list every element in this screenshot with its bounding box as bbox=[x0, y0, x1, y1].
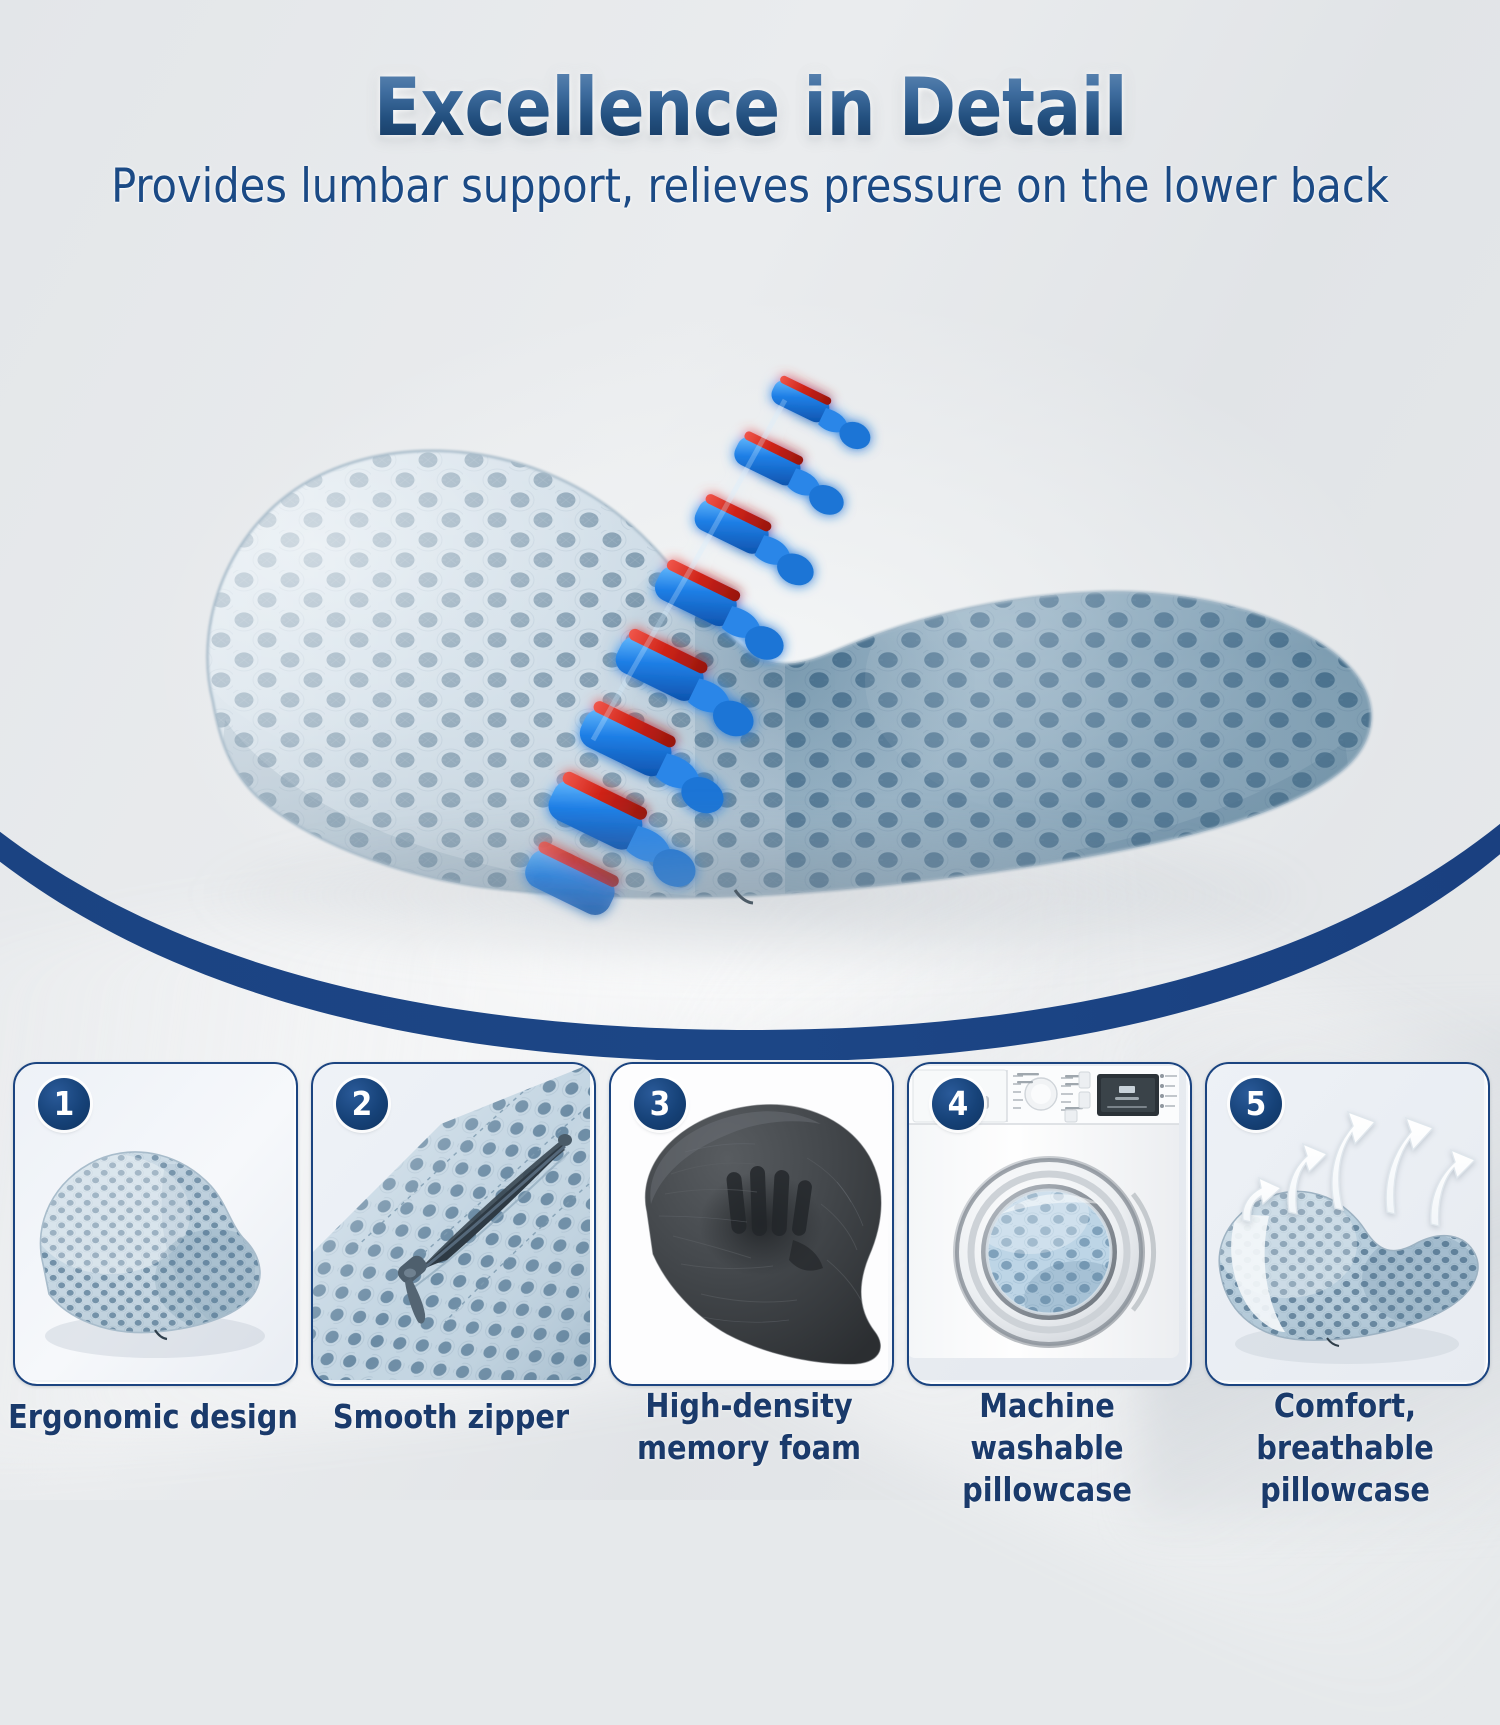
section-divider bbox=[0, 790, 1500, 1060]
page-title-container: Excellence in Detail bbox=[0, 68, 1500, 148]
feature-card-5[interactable]: 5 bbox=[1205, 1062, 1490, 1386]
feature-card-2[interactable]: 2 bbox=[311, 1062, 596, 1386]
feature-caption-5: Comfort, breathable pillowcase bbox=[1200, 1385, 1491, 1512]
feature-caption-3-line2: memory foam bbox=[604, 1427, 895, 1469]
feature-badge-4: 4 bbox=[932, 1078, 984, 1130]
feature-card-4[interactable]: 4 bbox=[907, 1062, 1192, 1386]
feature-badge-2: 2 bbox=[336, 1078, 388, 1130]
feature-caption-4-line2: pillowcase bbox=[902, 1469, 1193, 1511]
page-subtitle: Provides lumbar support, relieves pressu… bbox=[11, 162, 1489, 211]
feature-badge-3: 3 bbox=[634, 1078, 686, 1130]
feature-caption-3-line1: High-density bbox=[604, 1385, 895, 1427]
feature-card-1[interactable]: 1 bbox=[13, 1062, 298, 1386]
feature-caption-3: High-density memory foam bbox=[604, 1385, 895, 1469]
feature-caption-4-line1: Machine washable bbox=[902, 1385, 1193, 1469]
feature-card-3[interactable]: 3 bbox=[609, 1062, 894, 1386]
feature-caption-2: Smooth zipper bbox=[306, 1396, 597, 1438]
divider-arc-icon bbox=[0, 790, 1500, 1060]
feature-badge-5: 5 bbox=[1230, 1078, 1282, 1130]
feature-caption-5-line1: Comfort, breathable bbox=[1200, 1385, 1491, 1469]
infographic-canvas: Excellence in Detail Provides lumbar sup… bbox=[0, 0, 1500, 1500]
page-title: Excellence in Detail bbox=[373, 68, 1126, 148]
feature-caption-1: Ergonomic design bbox=[8, 1396, 299, 1438]
feature-card-row: 1 bbox=[0, 1062, 1500, 1382]
feature-badge-1: 1 bbox=[38, 1078, 90, 1130]
feature-caption-5-line2: pillowcase bbox=[1200, 1469, 1491, 1511]
feature-caption-4: Machine washable pillowcase bbox=[902, 1385, 1193, 1512]
